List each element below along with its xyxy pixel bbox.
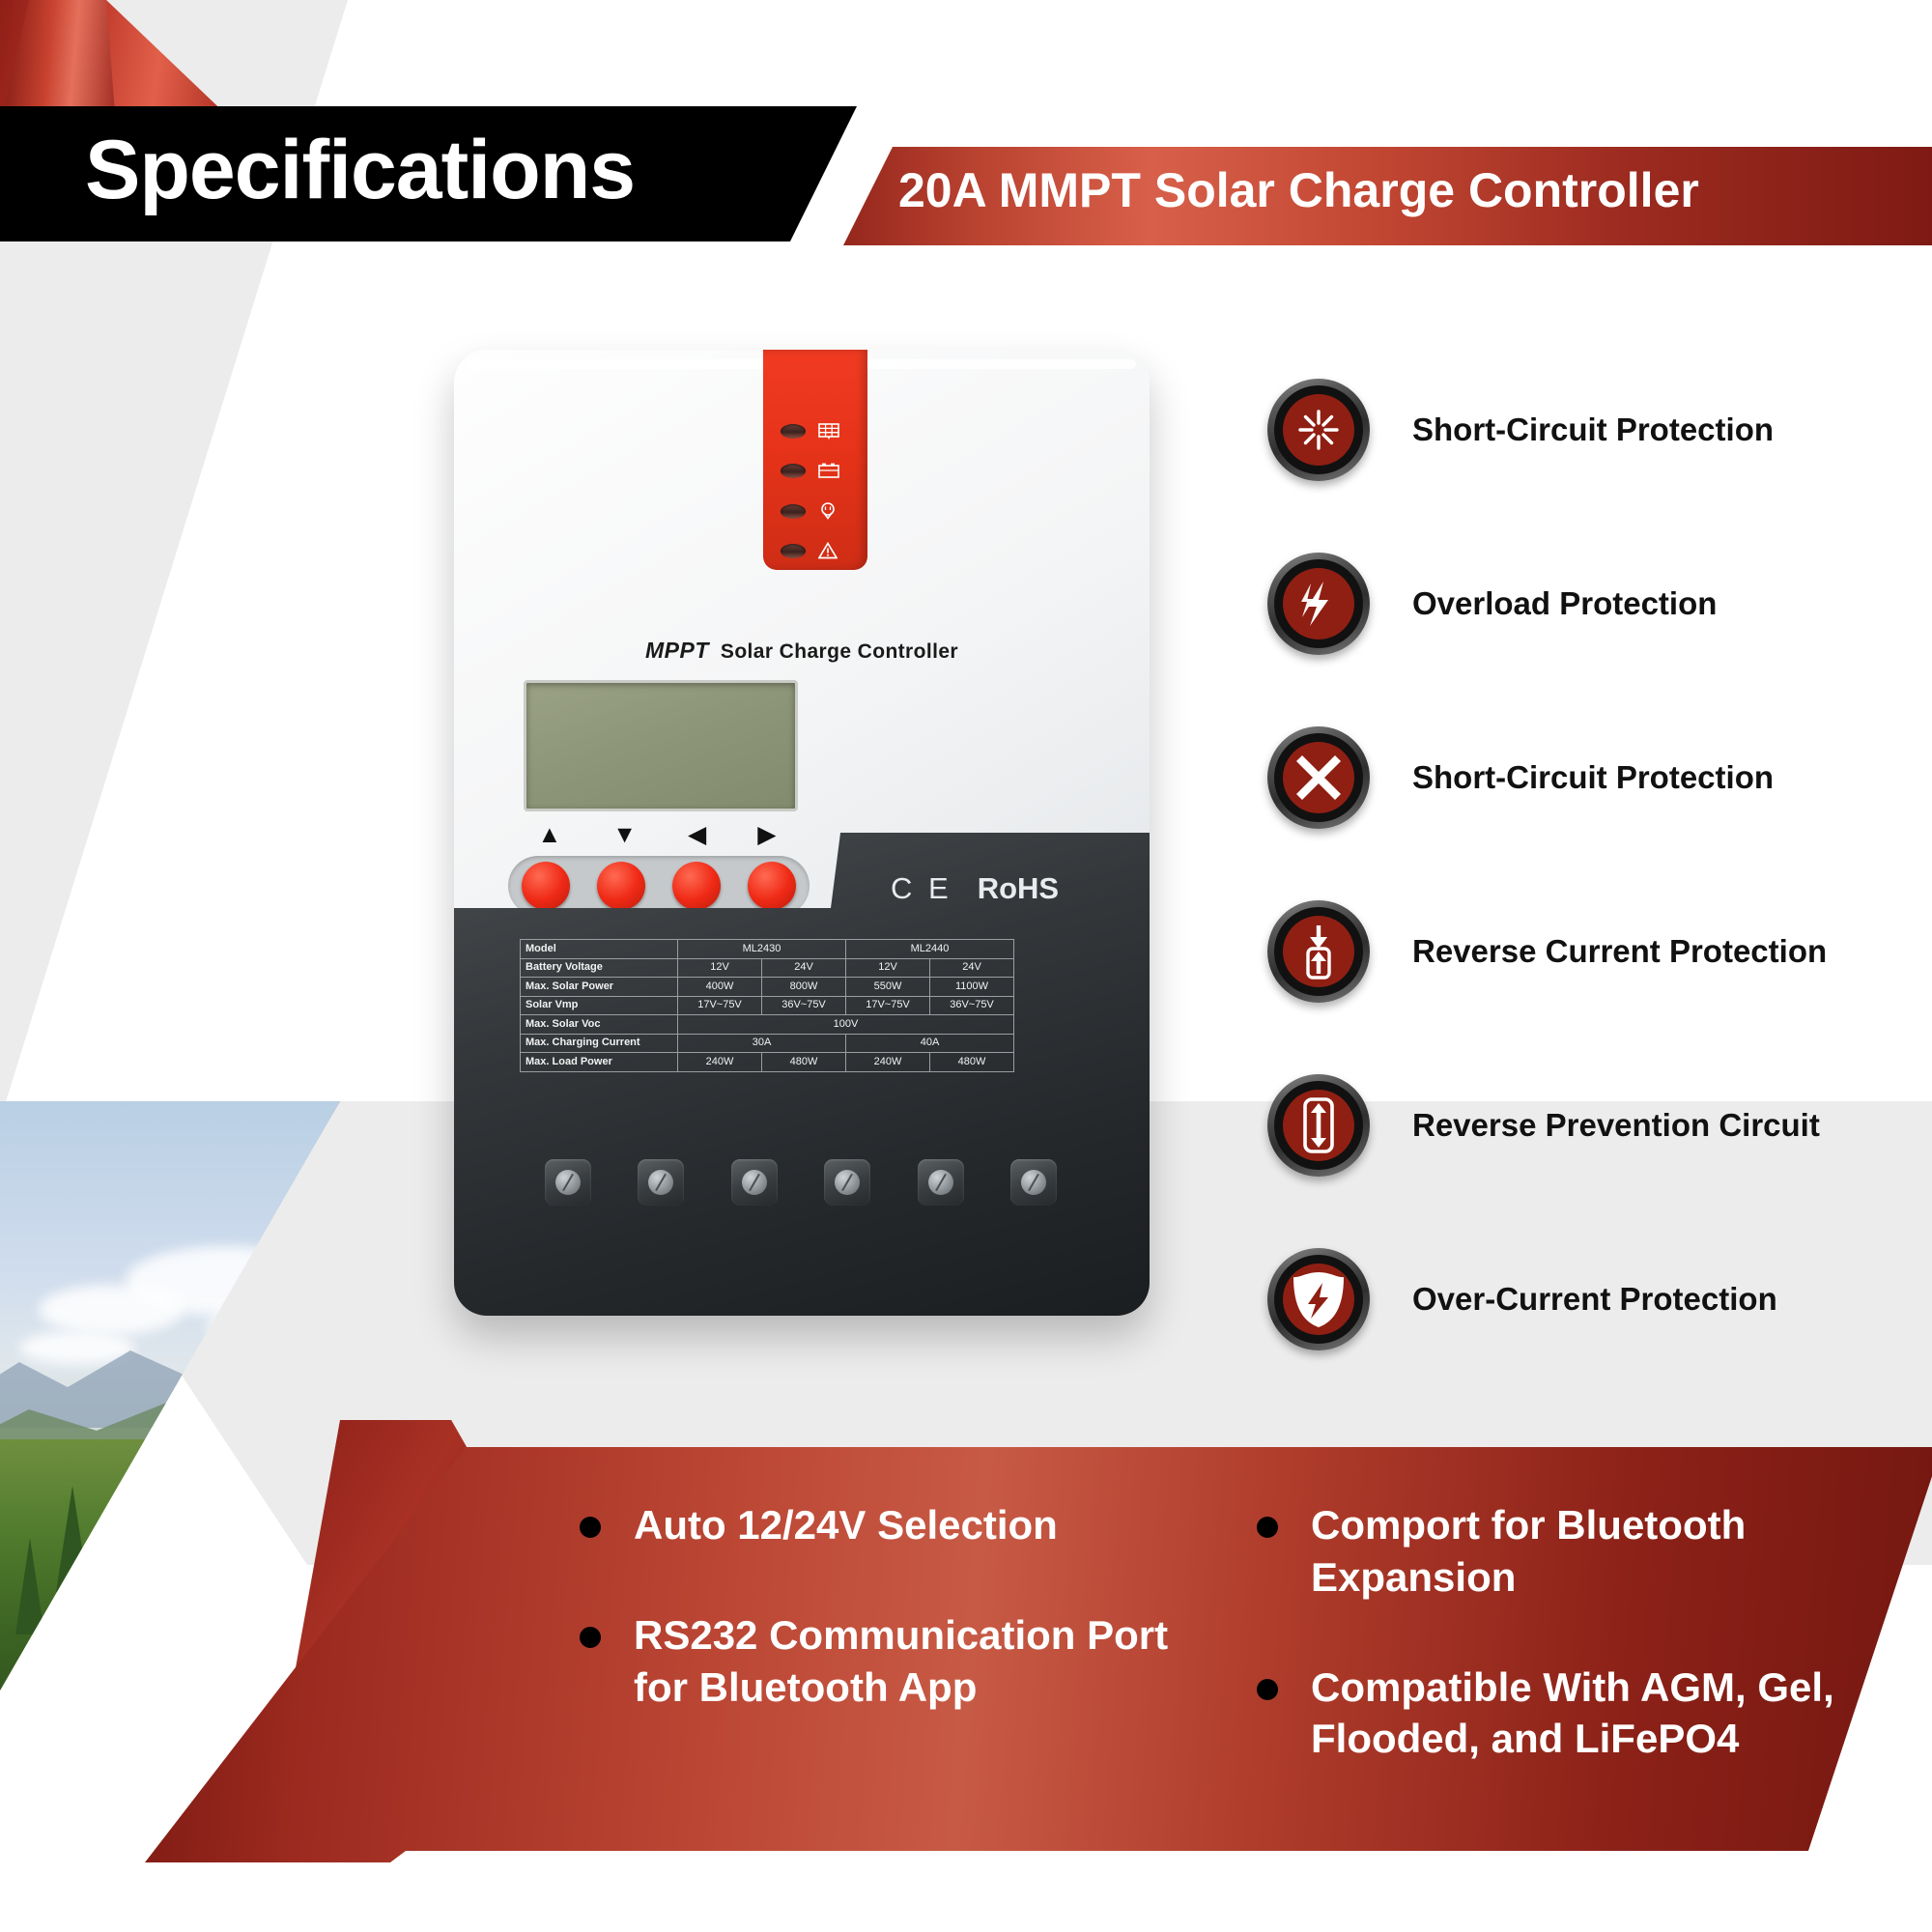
spec-cell: ML2440 bbox=[846, 940, 1014, 959]
warning-triangle-icon bbox=[818, 542, 838, 559]
feature-icon-ring bbox=[1267, 726, 1370, 829]
feature-row-short-circuit-1: Short-Circuit Protection bbox=[1267, 343, 1905, 517]
feature-icon-bezel bbox=[1274, 1081, 1363, 1170]
spec-table-row: Battery Voltage12V24V12V24V bbox=[521, 958, 1014, 978]
led-row-warning bbox=[781, 542, 838, 559]
spec-table-row: Max. Solar Power400W800W550W1100W bbox=[521, 978, 1014, 997]
screw-icon bbox=[928, 1170, 953, 1195]
terminal-screw bbox=[824, 1159, 870, 1206]
device-brand-mppt: MPPT bbox=[645, 638, 709, 663]
spec-cell: 1100W bbox=[930, 978, 1014, 997]
spec-table-row: Max. Solar Voc100V bbox=[521, 1015, 1014, 1035]
bullet-icon bbox=[580, 1517, 601, 1538]
down-arrow-icon: ▼ bbox=[612, 823, 637, 847]
bottom-feature-item: RS232 Communication Port for Bluetooth A… bbox=[580, 1609, 1197, 1714]
spec-row-label: Max. Load Power bbox=[521, 1053, 678, 1072]
screw-icon bbox=[835, 1170, 860, 1195]
down-button[interactable] bbox=[597, 862, 645, 910]
feature-label: Over-Current Protection bbox=[1412, 1280, 1777, 1319]
burst-short-circuit-icon bbox=[1283, 394, 1354, 466]
left-button[interactable] bbox=[672, 862, 721, 910]
spec-cell: 12V bbox=[678, 958, 762, 978]
screw-icon bbox=[555, 1170, 581, 1195]
device-spec-table: ModelML2430ML2440Battery Voltage12V24V12… bbox=[520, 939, 1014, 1072]
bullet-icon bbox=[1257, 1679, 1278, 1700]
bottom-feature-label: Compatible With AGM, Gel, Flooded, and L… bbox=[1311, 1662, 1874, 1766]
feature-icon-bezel bbox=[1274, 733, 1363, 822]
button-arrow-labels: ▲ ▼ ◀ ▶ bbox=[512, 823, 802, 847]
up-arrow-icon: ▲ bbox=[538, 823, 562, 847]
certification-marks: C E RoHS bbox=[891, 871, 1059, 906]
spec-row-label: Max. Charging Current bbox=[521, 1034, 678, 1053]
up-button[interactable] bbox=[522, 862, 570, 910]
bottom-feature-item: Comport for Bluetooth Expansion bbox=[1257, 1499, 1874, 1604]
device-button-bar bbox=[508, 856, 810, 916]
spec-cell: 240W bbox=[846, 1053, 930, 1072]
feature-label: Short-Circuit Protection bbox=[1412, 758, 1774, 797]
screw-icon bbox=[1021, 1170, 1046, 1195]
solar-charge-controller-device: MPPTSolar Charge Controller ▲ ▼ ◀ ▶ C E … bbox=[454, 350, 1150, 1316]
spec-cell: 17V~75V bbox=[678, 996, 762, 1015]
feature-icon-bezel bbox=[1274, 907, 1363, 996]
spec-cell: 800W bbox=[762, 978, 846, 997]
spec-table-row: Solar Vmp17V~75V36V~75V17V~75V36V~75V bbox=[521, 996, 1014, 1015]
bottom-feature-item: Compatible With AGM, Gel, Flooded, and L… bbox=[1257, 1662, 1874, 1766]
left-arrow-icon: ◀ bbox=[688, 823, 706, 847]
feature-icon-bezel bbox=[1274, 559, 1363, 648]
feature-row-reverse-prevention: Reverse Prevention Circuit bbox=[1267, 1038, 1905, 1212]
solar-panel-led bbox=[781, 424, 806, 439]
rohs-mark-icon: RoHS bbox=[978, 871, 1059, 906]
shield-bolt-icon bbox=[1283, 1264, 1354, 1335]
bullet-icon bbox=[580, 1627, 601, 1648]
feature-icon-ring bbox=[1267, 553, 1370, 655]
screw-icon bbox=[742, 1170, 767, 1195]
bottom-feature-item: Auto 12/24V Selection bbox=[580, 1499, 1197, 1551]
led-indicator-strip bbox=[763, 350, 867, 570]
lcd-display bbox=[524, 680, 798, 811]
feature-icon-ring bbox=[1267, 379, 1370, 481]
x-cross-icon bbox=[1283, 742, 1354, 813]
solar-panel-icon bbox=[818, 423, 839, 440]
spec-row-label: Model bbox=[521, 940, 678, 959]
feature-row-short-circuit-2: Short-Circuit Protection bbox=[1267, 691, 1905, 865]
terminal-screw bbox=[918, 1159, 964, 1206]
device-brand-label: MPPTSolar Charge Controller bbox=[454, 638, 1150, 664]
spec-table-row: Max. Load Power240W480W240W480W bbox=[521, 1053, 1014, 1072]
tree bbox=[116, 1517, 143, 1608]
spec-cell: 36V~75V bbox=[930, 996, 1014, 1015]
product-title: 20A MMPT Solar Charge Controller bbox=[898, 162, 1699, 218]
spec-table-row: ModelML2430ML2440 bbox=[521, 940, 1014, 959]
battery-icon bbox=[818, 463, 839, 479]
spec-cell: 17V~75V bbox=[846, 996, 930, 1015]
right-arrow-icon: ▶ bbox=[757, 823, 776, 847]
battery-led bbox=[781, 464, 806, 478]
light-bulb-icon bbox=[818, 502, 838, 520]
warning-led bbox=[781, 544, 806, 558]
led-row-load bbox=[781, 502, 838, 520]
spec-cell: 480W bbox=[762, 1053, 846, 1072]
lightning-bolt-overload-icon bbox=[1283, 568, 1354, 639]
ce-mark-icon: C E bbox=[891, 871, 952, 906]
protection-feature-list: Short-Circuit Protection Overload Protec… bbox=[1267, 343, 1905, 1386]
right-button[interactable] bbox=[748, 862, 796, 910]
feature-row-over-current: Over-Current Protection bbox=[1267, 1212, 1905, 1386]
spec-cell: 40A bbox=[846, 1034, 1014, 1053]
bidirectional-arrow-icon bbox=[1283, 1090, 1354, 1161]
spec-cell: 24V bbox=[762, 958, 846, 978]
terminal-screw bbox=[545, 1159, 591, 1206]
feature-label: Reverse Current Protection bbox=[1412, 932, 1827, 971]
bottom-feature-label: Comport for Bluetooth Expansion bbox=[1311, 1499, 1874, 1604]
bottom-feature-columns: Auto 12/24V Selection RS232 Communicatio… bbox=[580, 1499, 1874, 1823]
spec-cell: ML2430 bbox=[678, 940, 846, 959]
feature-icon-ring bbox=[1267, 1074, 1370, 1177]
terminal-screw bbox=[731, 1159, 778, 1206]
feature-row-overload: Overload Protection bbox=[1267, 517, 1905, 691]
device-brand-subtitle: Solar Charge Controller bbox=[721, 640, 958, 663]
feature-icon-bezel bbox=[1274, 385, 1363, 474]
spec-table-row: Max. Charging Current30A40A bbox=[521, 1034, 1014, 1053]
spec-cell: 12V bbox=[846, 958, 930, 978]
feature-icon-ring bbox=[1267, 900, 1370, 1003]
bottom-feature-column-left: Auto 12/24V Selection RS232 Communicatio… bbox=[580, 1499, 1197, 1823]
led-row-battery bbox=[781, 463, 839, 479]
feature-label: Short-Circuit Protection bbox=[1412, 411, 1774, 449]
spec-cell: 30A bbox=[678, 1034, 846, 1053]
terminal-screw bbox=[638, 1159, 684, 1206]
spec-cell: 24V bbox=[930, 958, 1014, 978]
screw-icon bbox=[648, 1170, 673, 1195]
page-title: Specifications bbox=[85, 114, 635, 226]
bottom-feature-label: Auto 12/24V Selection bbox=[634, 1499, 1058, 1551]
bullet-icon bbox=[1257, 1517, 1278, 1538]
bottom-feature-label: RS232 Communication Port for Bluetooth A… bbox=[634, 1609, 1197, 1714]
feature-label: Reverse Prevention Circuit bbox=[1412, 1106, 1820, 1145]
tree bbox=[184, 1555, 209, 1640]
spec-row-label: Solar Vmp bbox=[521, 996, 678, 1015]
terminal-block bbox=[545, 1159, 1057, 1206]
spec-row-label: Max. Solar Voc bbox=[521, 1015, 678, 1035]
feature-icon-bezel bbox=[1274, 1255, 1363, 1344]
spec-cell: 36V~75V bbox=[762, 996, 846, 1015]
feature-icon-ring bbox=[1267, 1248, 1370, 1350]
bottom-feature-column-right: Comport for Bluetooth Expansion Compatib… bbox=[1257, 1499, 1874, 1823]
spec-cell: 400W bbox=[678, 978, 762, 997]
spec-row-label: Battery Voltage bbox=[521, 958, 678, 978]
feature-row-reverse-current: Reverse Current Protection bbox=[1267, 865, 1905, 1038]
spec-cell: 550W bbox=[846, 978, 930, 997]
infographic-canvas: Specifications 20A MMPT Solar Charge Con… bbox=[0, 0, 1932, 1932]
load-bulb-led bbox=[781, 504, 806, 519]
spec-cell: 240W bbox=[678, 1053, 762, 1072]
spec-row-label: Max. Solar Power bbox=[521, 978, 678, 997]
spec-cell: 480W bbox=[930, 1053, 1014, 1072]
bottom-white-strip bbox=[290, 1851, 1932, 1932]
feature-label: Overload Protection bbox=[1412, 584, 1717, 623]
spec-cell: 100V bbox=[678, 1015, 1014, 1035]
terminal-screw bbox=[1010, 1159, 1057, 1206]
led-row-solar bbox=[781, 423, 839, 440]
reverse-current-arrow-icon bbox=[1283, 916, 1354, 987]
